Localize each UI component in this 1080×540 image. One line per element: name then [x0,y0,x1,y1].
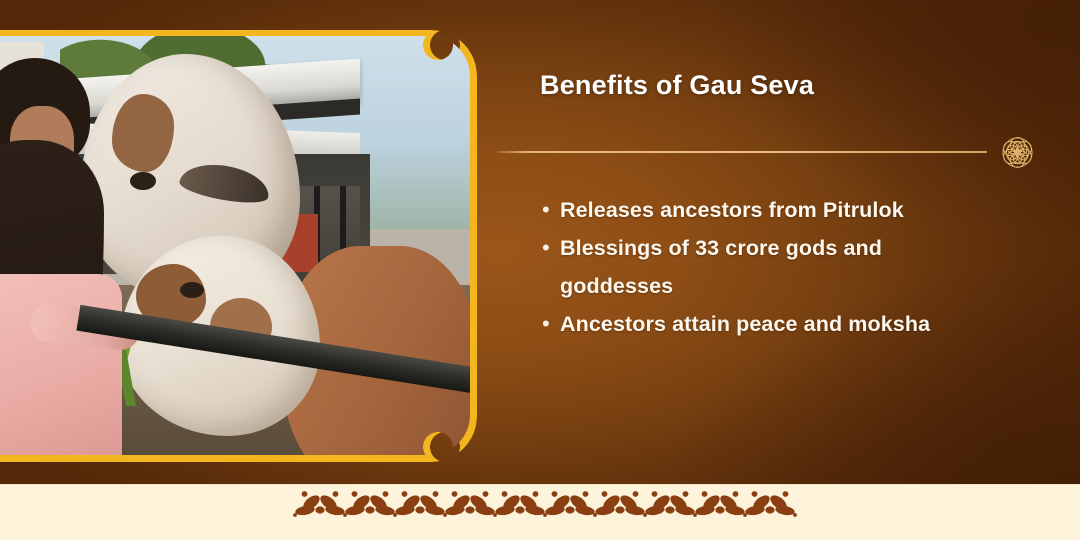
page-title: Benefits of Gau Seva [540,70,1020,101]
mandala-rosette-icon [996,131,1039,174]
list-item: • Blessings of 33 crore gods and [538,230,1038,266]
benefits-list: • Releases ancestors from Pitrulok • Ble… [538,192,1038,344]
bullet-marker-icon: • [538,306,560,342]
photo-cow-upper-eye [130,172,156,190]
bullet-marker-icon: • [538,230,560,266]
list-item: • Releases ancestors from Pitrulok [538,192,1038,228]
list-item-text: Ancestors attain peace and moksha [560,306,930,342]
title-divider [497,151,987,153]
list-item-text: goddesses [560,268,673,304]
photo-clip [0,36,470,455]
list-item-text: Blessings of 33 crore gods and [560,230,882,266]
list-item: • Ancestors attain peace and moksha [538,306,1038,342]
list-item-text: Releases ancestors from Pitrulok [560,192,904,228]
floral-leaf-motif-border [0,485,1080,540]
photo-frame-wrapper [0,30,477,462]
gaushala-photo [0,36,470,455]
footer-band [0,484,1080,540]
list-item-continuation: goddesses [538,268,1038,304]
photo-woman-torso [0,274,122,455]
slide-canvas: Benefits of Gau Seva [0,0,1080,540]
photo-cow-lower-eye [180,282,204,298]
bullet-marker-icon: • [538,192,560,228]
